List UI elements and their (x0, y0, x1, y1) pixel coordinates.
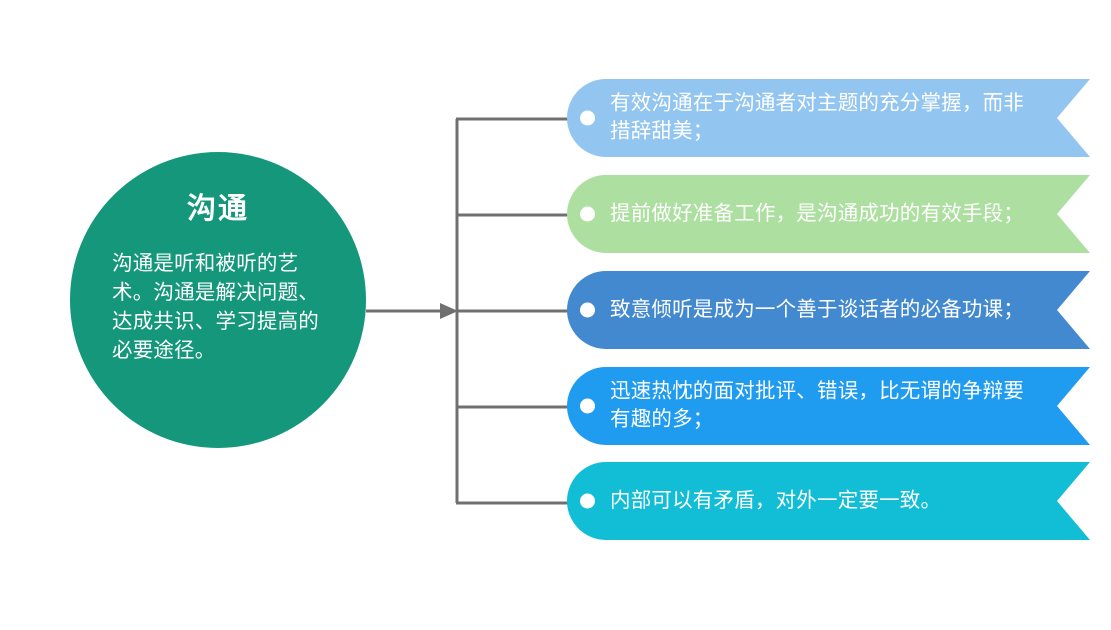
branch-banner-4[interactable]: 迅速热忱的面对批评、错误，比无谓的争辩要有趣的多； (567, 367, 1090, 445)
bullet-dot-1 (580, 111, 595, 126)
bullet-dot-2 (580, 207, 595, 222)
branch-text-2: 提前做好准备工作，是沟通成功的有效手段； (610, 200, 1040, 228)
branch-text-4: 迅速热忱的面对批评、错误，比无谓的争辩要有趣的多； (610, 378, 1040, 435)
diagram-canvas: 沟通 沟通是听和被听的艺术。沟通是解决问题、达成共识、学习提高的必要途径。 有效… (0, 0, 1111, 630)
branch-text-5: 内部可以有矛盾，对外一定要一致。 (610, 487, 1040, 515)
bullet-dot-3 (580, 303, 595, 318)
branch-banner-5[interactable]: 内部可以有矛盾，对外一定要一致。 (567, 462, 1090, 540)
branch-text-3: 致意倾听是成为一个善于谈话者的必备功课； (610, 296, 1040, 324)
arrow-head-icon (440, 303, 458, 319)
branch-banner-3[interactable]: 致意倾听是成为一个善于谈话者的必备功课； (567, 271, 1090, 349)
hub-title: 沟通 (187, 192, 249, 227)
hub-description: 沟通是听和被听的艺术。沟通是解决问题、达成共识、学习提高的必要途径。 (112, 249, 324, 365)
hub-circle[interactable]: 沟通 沟通是听和被听的艺术。沟通是解决问题、达成共识、学习提高的必要途径。 (70, 152, 366, 448)
branch-banner-1[interactable]: 有效沟通在于沟通者对主题的充分掌握，而非措辞甜美； (567, 79, 1090, 157)
bullet-dot-4 (580, 399, 595, 414)
bullet-dot-5 (580, 494, 595, 509)
branch-text-1: 有效沟通在于沟通者对主题的充分掌握，而非措辞甜美； (610, 90, 1040, 147)
branch-banner-2[interactable]: 提前做好准备工作，是沟通成功的有效手段； (567, 175, 1090, 253)
